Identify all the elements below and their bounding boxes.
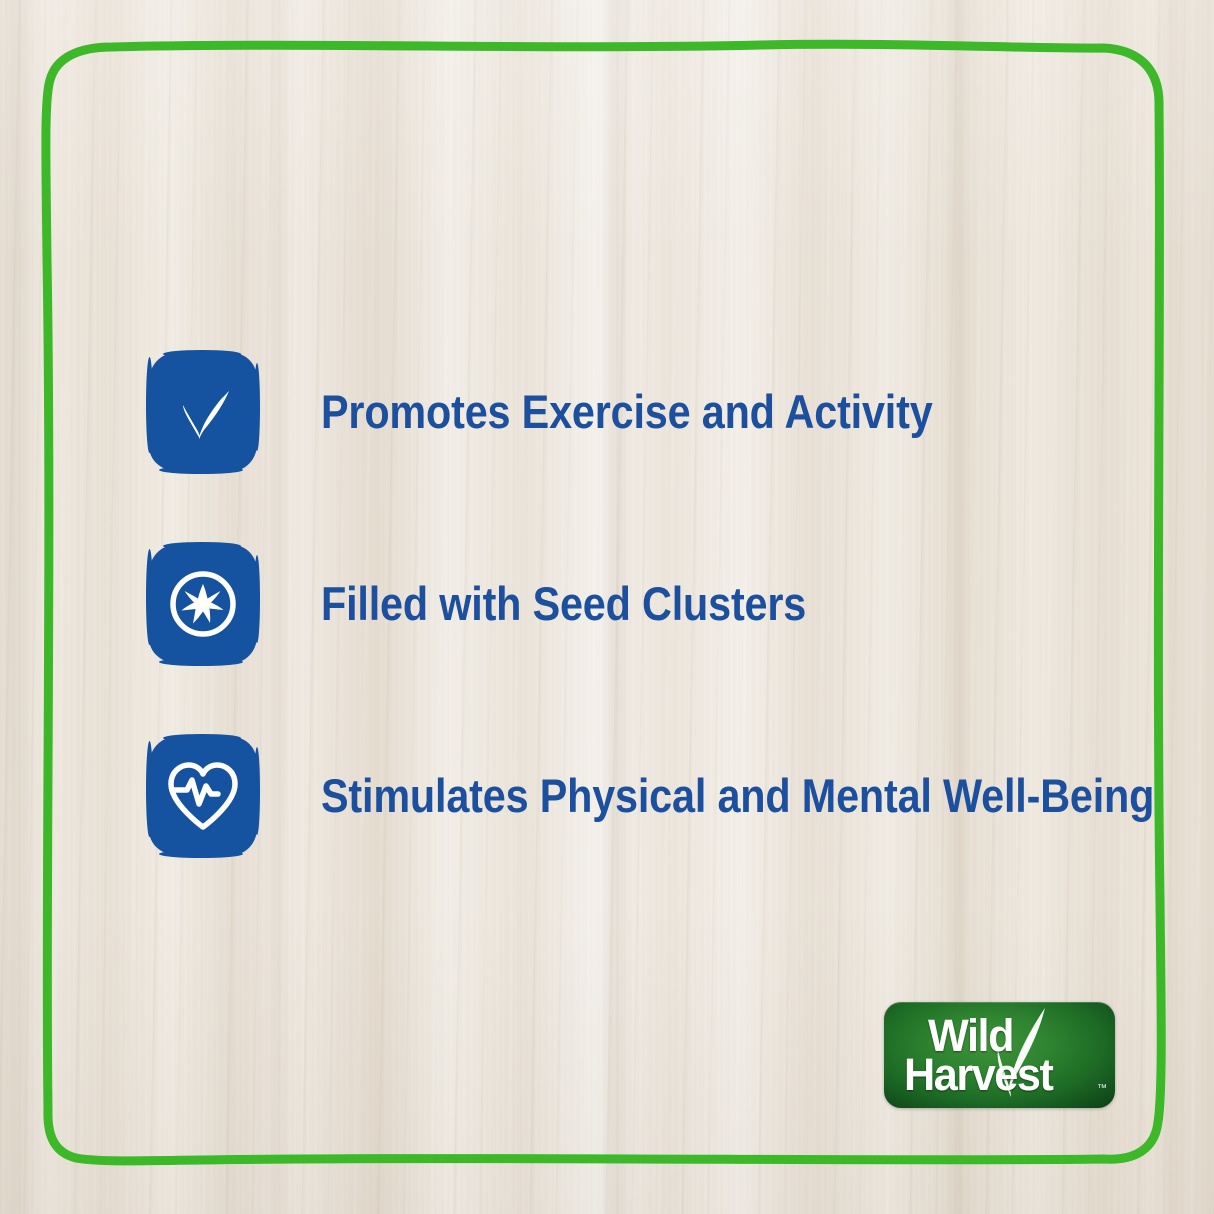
benefit-row: Stimulates Physical and Mental Well-Bein… bbox=[149, 737, 1214, 855]
benefit-row: Promotes Exercise and Activity bbox=[149, 353, 1016, 471]
heart-pulse-glyph bbox=[163, 758, 243, 834]
seed-cluster-icon bbox=[149, 545, 257, 663]
sprout-check-icon bbox=[149, 353, 257, 471]
seed-cluster-glyph bbox=[164, 565, 242, 643]
benefit-label: Promotes Exercise and Activity bbox=[321, 388, 933, 436]
benefit-row: Filled with Seed Clusters bbox=[149, 545, 872, 663]
product-benefits-panel: Promotes Exercise and Activity Filled wi… bbox=[0, 0, 1214, 1214]
icon-edge-texture bbox=[163, 542, 241, 550]
icon-edge-texture bbox=[159, 850, 243, 858]
icon-edge-texture bbox=[159, 658, 243, 666]
icon-edge-texture bbox=[159, 466, 243, 474]
wild-harvest-logo: Wild Harvest ™ bbox=[884, 1002, 1115, 1108]
benefit-label: Filled with Seed Clusters bbox=[321, 580, 806, 628]
heart-pulse-icon bbox=[149, 737, 257, 855]
logo-line-harvest: Harvest bbox=[904, 1049, 1052, 1101]
icon-edge-texture bbox=[163, 350, 241, 358]
icon-edge-texture bbox=[163, 734, 241, 742]
benefit-label: Stimulates Physical and Mental Well-Bein… bbox=[321, 772, 1154, 820]
sprout-check-glyph bbox=[166, 375, 240, 449]
trademark-symbol: ™ bbox=[1097, 1083, 1107, 1094]
